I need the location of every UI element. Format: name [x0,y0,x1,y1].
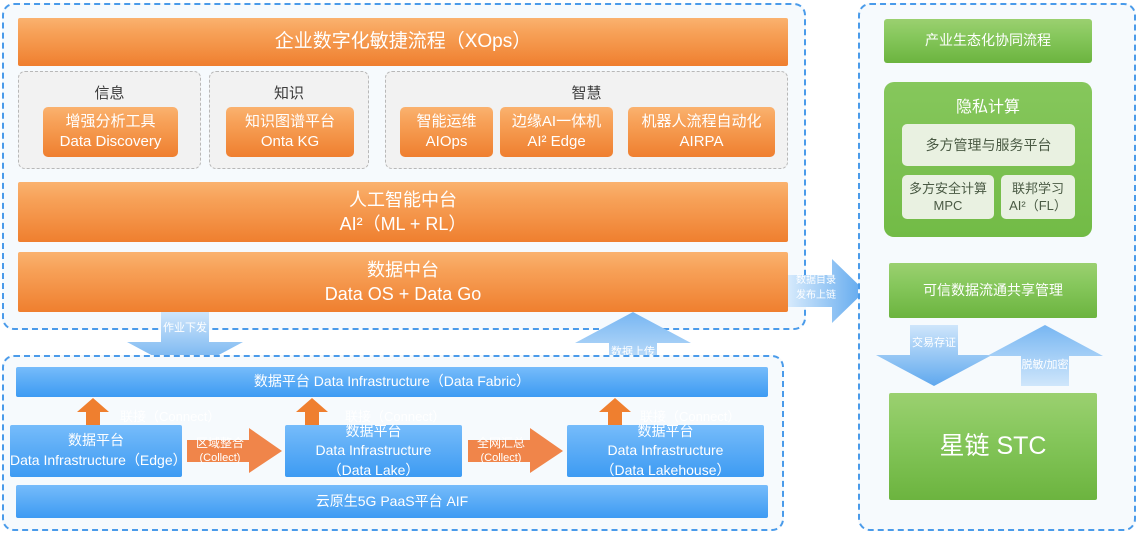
chip-ai2-edge-en: AI² Edge [527,132,585,152]
group-box-intelligence: 智慧 智能运维 AIOps 边缘AI一体机 AI² Edge 机器人流程自动化 … [385,71,788,169]
group-title-knowledge: 知识 [210,82,368,103]
privacy-computing-panel: 隐私计算 多方管理与服务平台 多方安全计算 MPC 联邦学习 AI²（FL） [884,82,1092,237]
node-lake-line2: Data Infrastructure [316,441,432,461]
node-data-infrastructure-edge[interactable]: 数据平台 Data Infrastructure（Edge） [10,425,182,477]
privacy-fl-cn: 联邦学习 [1012,180,1064,197]
chip-onta-kg-en: Onta KG [261,132,319,152]
node-lake-line1: 数据平台 [346,422,402,442]
trusted-data-sharing-label: 可信数据流通共享管理 [923,281,1063,301]
node-lakehouse-line3: （Data Lakehouse） [601,461,731,481]
chip-ai2-edge-cn: 边缘AI一体机 [512,112,601,132]
connect-label-1: 联接（Connect） [120,406,220,425]
stc-box[interactable]: 星链 STC [889,393,1097,500]
chip-aiops-cn: 智能运维 [416,112,476,132]
ai-middle-platform-en: AI²（ML + RL） [340,212,467,236]
chip-data-discovery-cn: 增强分析工具 [65,112,155,132]
chip-aiops-en: AIOps [426,132,468,152]
chip-data-discovery-en: Data Discovery [60,132,162,152]
industry-ecosystem-bar: 产业生态化协同流程 [884,19,1092,63]
privacy-mpc-cn: 多方安全计算 [909,180,987,197]
node-lakehouse-line1: 数据平台 [638,422,694,442]
chip-data-discovery[interactable]: 增强分析工具 Data Discovery [43,107,178,157]
node-data-infrastructure-lakehouse[interactable]: 数据平台 Data Infrastructure （Data Lakehouse… [567,425,764,477]
group-title-information: 信息 [19,82,200,103]
paas-platform-label: 云原生5G PaaS平台 AIF [316,492,468,512]
node-lakehouse-line2: Data Infrastructure [608,441,724,461]
stc-label: 星链 STC [940,429,1047,464]
industry-ecosystem-label: 产业生态化协同流程 [925,31,1051,51]
xops-header-bar: 企业数字化敏捷流程（XOps） [18,18,788,66]
ai-middle-platform-cn: 人工智能中台 [349,188,457,212]
group-box-knowledge: 知识 知识图谱平台 Onta KG [209,71,369,169]
privacy-fl-en: AI²（FL） [1009,197,1067,214]
diagram-canvas: 企业数字化敏捷流程（XOps） 信息 增强分析工具 Data Discovery… [0,0,1138,534]
data-middle-platform-cn: 数据中台 [367,258,439,282]
data-middle-platform-en: Data OS + Data Go [325,282,482,306]
group-box-information: 信息 增强分析工具 Data Discovery [18,71,201,169]
node-lake-line3: （Data Lake） [328,461,420,481]
node-data-infrastructure-lake[interactable]: 数据平台 Data Infrastructure （Data Lake） [285,425,462,477]
chip-airpa-en: AIRPA [680,132,724,152]
chip-ai2-edge[interactable]: 边缘AI一体机 AI² Edge [500,107,613,157]
chip-aiops[interactable]: 智能运维 AIOps [400,107,493,157]
privacy-fl-box[interactable]: 联邦学习 AI²（FL） [1001,175,1075,219]
trusted-data-sharing-bar: 可信数据流通共享管理 [889,263,1097,318]
xops-header-label: 企业数字化敏捷流程（XOps） [275,29,532,55]
data-fabric-label: 数据平台 Data Infrastructure（Data Fabric） [254,372,530,392]
chip-airpa[interactable]: 机器人流程自动化 AIRPA [628,107,775,157]
data-middle-platform-bar: 数据中台 Data OS + Data Go [18,252,788,312]
ai-middle-platform-bar: 人工智能中台 AI²（ML + RL） [18,182,788,242]
node-edge-line2: Data Infrastructure（Edge） [10,451,182,471]
privacy-multiparty-platform[interactable]: 多方管理与服务平台 [902,124,1075,166]
data-fabric-bar: 数据平台 Data Infrastructure（Data Fabric） [16,367,768,397]
paas-platform-bar: 云原生5G PaaS平台 AIF [16,485,768,518]
privacy-multiparty-platform-label: 多方管理与服务平台 [926,136,1052,154]
node-edge-line1: 数据平台 [68,431,124,451]
privacy-computing-title: 隐私计算 [884,93,1092,117]
chip-onta-kg[interactable]: 知识图谱平台 Onta KG [226,107,354,157]
chip-onta-kg-cn: 知识图谱平台 [245,112,335,132]
chip-airpa-cn: 机器人流程自动化 [641,112,761,132]
privacy-mpc-box[interactable]: 多方安全计算 MPC [902,175,994,219]
group-title-intelligence: 智慧 [386,82,787,103]
privacy-mpc-en: MPC [934,197,963,214]
